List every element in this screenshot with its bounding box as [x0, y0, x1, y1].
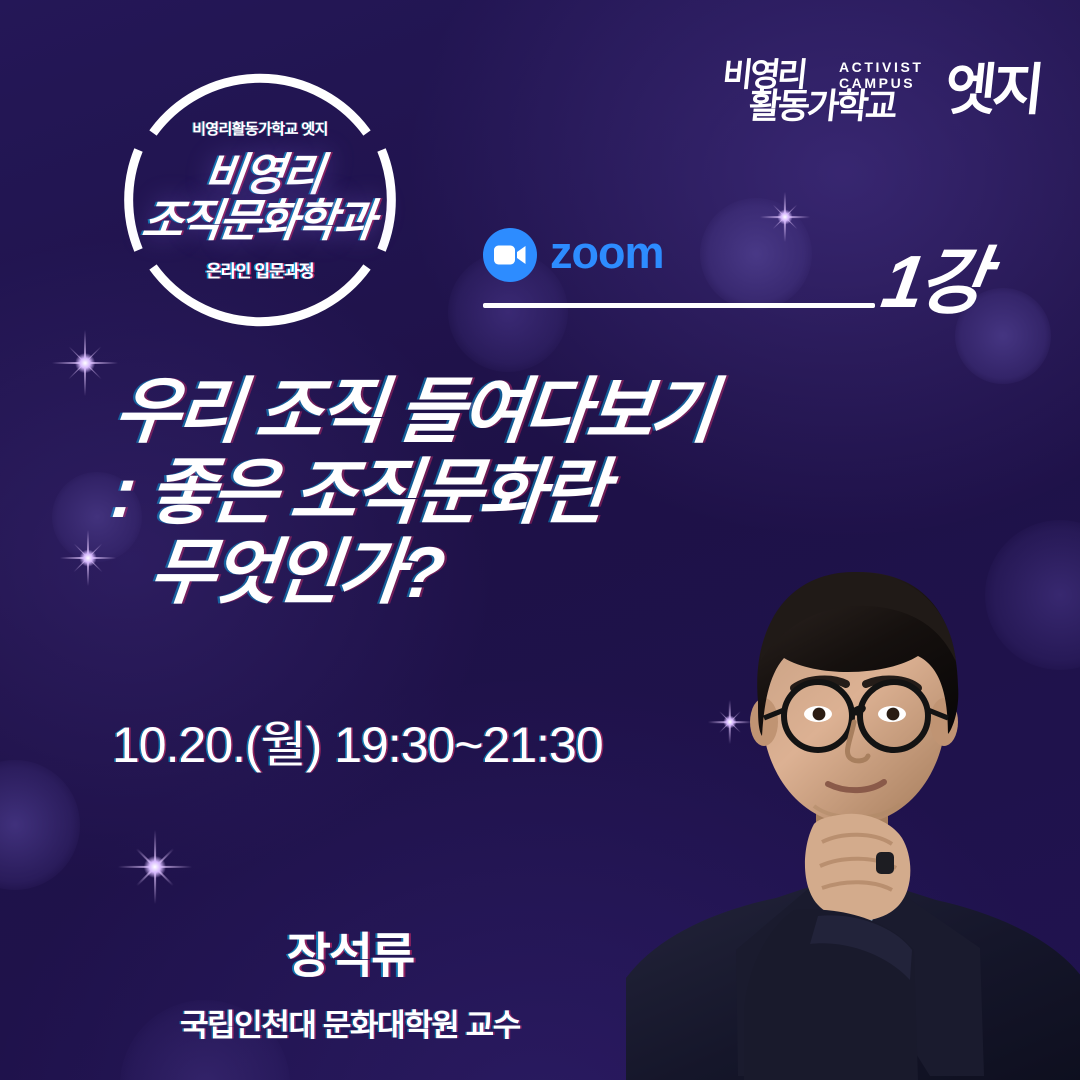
wordmark-korean-block: 비영리 ACTIVIST CAMPUS 활동가학교	[723, 48, 935, 118]
speaker-name: 장석류	[0, 916, 700, 986]
wordmark-line2: 활동가학교	[746, 78, 897, 129]
headline-line1: 우리 조직 들여다보기	[110, 372, 918, 453]
course-badge: 비영리활동가학교 엣지 비영리 조직문화학과 온라인 입문과정	[114, 54, 406, 346]
zoom-wordmark: zoom	[550, 230, 664, 280]
badge-eyebrow: 비영리활동가학교 엣지	[192, 118, 328, 139]
schedule-datetime: 10.20.(월) 19:30~21:30	[112, 705, 603, 777]
headline-line3: 무엇인가?	[93, 533, 901, 614]
badge-title: 비영리 조직문화학과	[139, 152, 381, 244]
brand-wordmark: 비영리 ACTIVIST CAMPUS 활동가학교 엣지	[723, 48, 1040, 118]
speaker-affiliation: 국립인천대 문화대학원 교수	[0, 1000, 700, 1045]
video-camera-glyph	[494, 244, 526, 266]
speaker-block: 장석류 국립인천대 문화대학원 교수	[0, 916, 700, 1045]
headline-line2: : 좋은 조직문화란	[102, 453, 910, 534]
badge-subtitle: 온라인 입문과정	[206, 257, 314, 282]
divider-rule	[483, 303, 875, 308]
wordmark-edge: 엣지	[942, 63, 1043, 118]
badge-title-line2: 조직문화학과	[139, 198, 375, 244]
zoom-logo: zoom	[483, 228, 875, 282]
platform-row: zoom	[483, 228, 875, 308]
lecture-number-badge: 1강	[876, 222, 992, 329]
page-title: 우리 조직 들여다보기 : 좋은 조직문화란 무엇인가?	[93, 372, 918, 614]
badge-title-line1: 비영리	[201, 149, 324, 200]
video-camera-icon	[483, 228, 537, 282]
poster-canvas: 비영리활동가학교 엣지 비영리 조직문화학과 온라인 입문과정 비영리 ACTI…	[0, 0, 1080, 1080]
